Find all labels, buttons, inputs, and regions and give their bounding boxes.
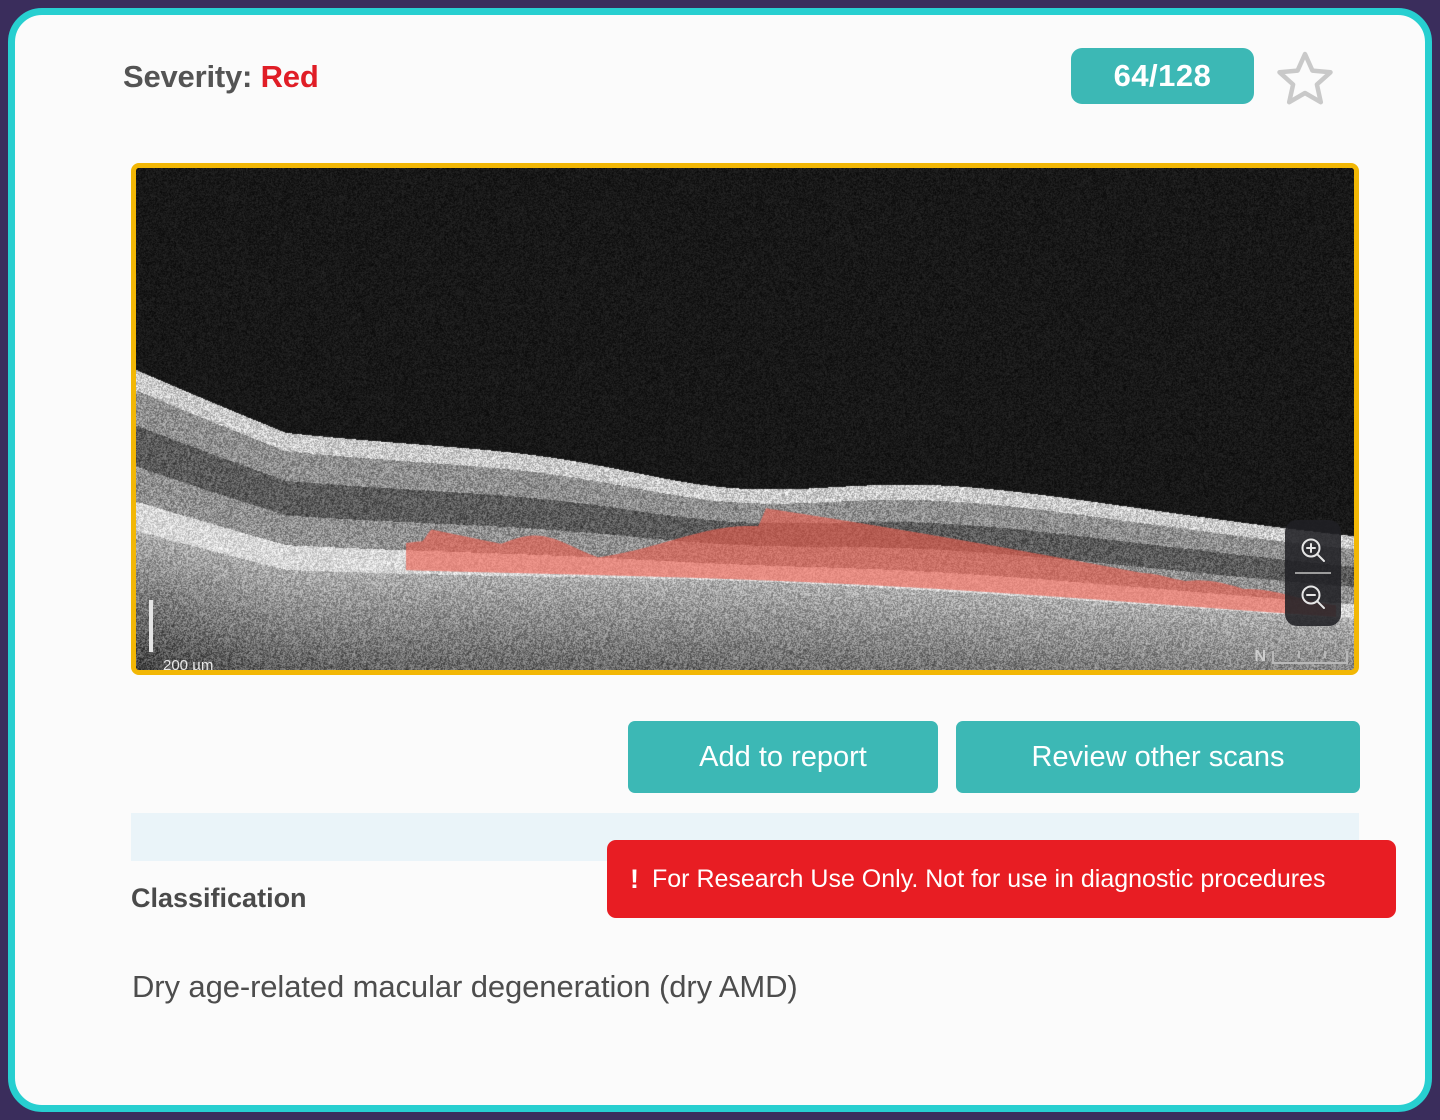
zoom-in-button[interactable] [1291, 527, 1335, 572]
orientation-ruler-icon [1272, 651, 1348, 664]
star-outline-icon [1277, 51, 1333, 105]
zoom-in-icon [1299, 536, 1327, 564]
research-use-warning-banner: ! For Research Use Only. Not for use in … [607, 840, 1396, 918]
severity-value: Red [261, 59, 319, 94]
zoom-out-icon [1299, 583, 1327, 611]
add-to-report-button[interactable]: Add to report [628, 721, 938, 793]
oct-b-scan-image[interactable] [136, 168, 1354, 670]
warning-message: For Research Use Only. Not for use in di… [652, 865, 1325, 894]
severity-readout: Severity: Red [123, 59, 319, 95]
action-button-row: Add to report Review other scans [15, 721, 1425, 793]
orientation-marker: N [1254, 648, 1348, 666]
exclamation-icon: ! [630, 864, 639, 895]
favorite-star-button[interactable] [1277, 51, 1333, 105]
severity-label: Severity: [123, 59, 252, 94]
classification-section-title: Classification [131, 883, 307, 914]
header-bar: Severity: Red 64/128 [15, 15, 1425, 135]
zoom-out-button[interactable] [1291, 574, 1335, 619]
classification-value: Dry age-related macular degeneration (dr… [132, 969, 798, 1005]
oct-scan-viewer[interactable]: 200 µm N [131, 163, 1359, 675]
review-other-scans-button[interactable]: Review other scans [956, 721, 1360, 793]
zoom-controls[interactable] [1285, 520, 1341, 626]
application-card: Severity: Red 64/128 200 µm N [8, 8, 1432, 1112]
scan-counter-badge[interactable]: 64/128 [1071, 48, 1254, 104]
orientation-label: N [1254, 648, 1266, 666]
